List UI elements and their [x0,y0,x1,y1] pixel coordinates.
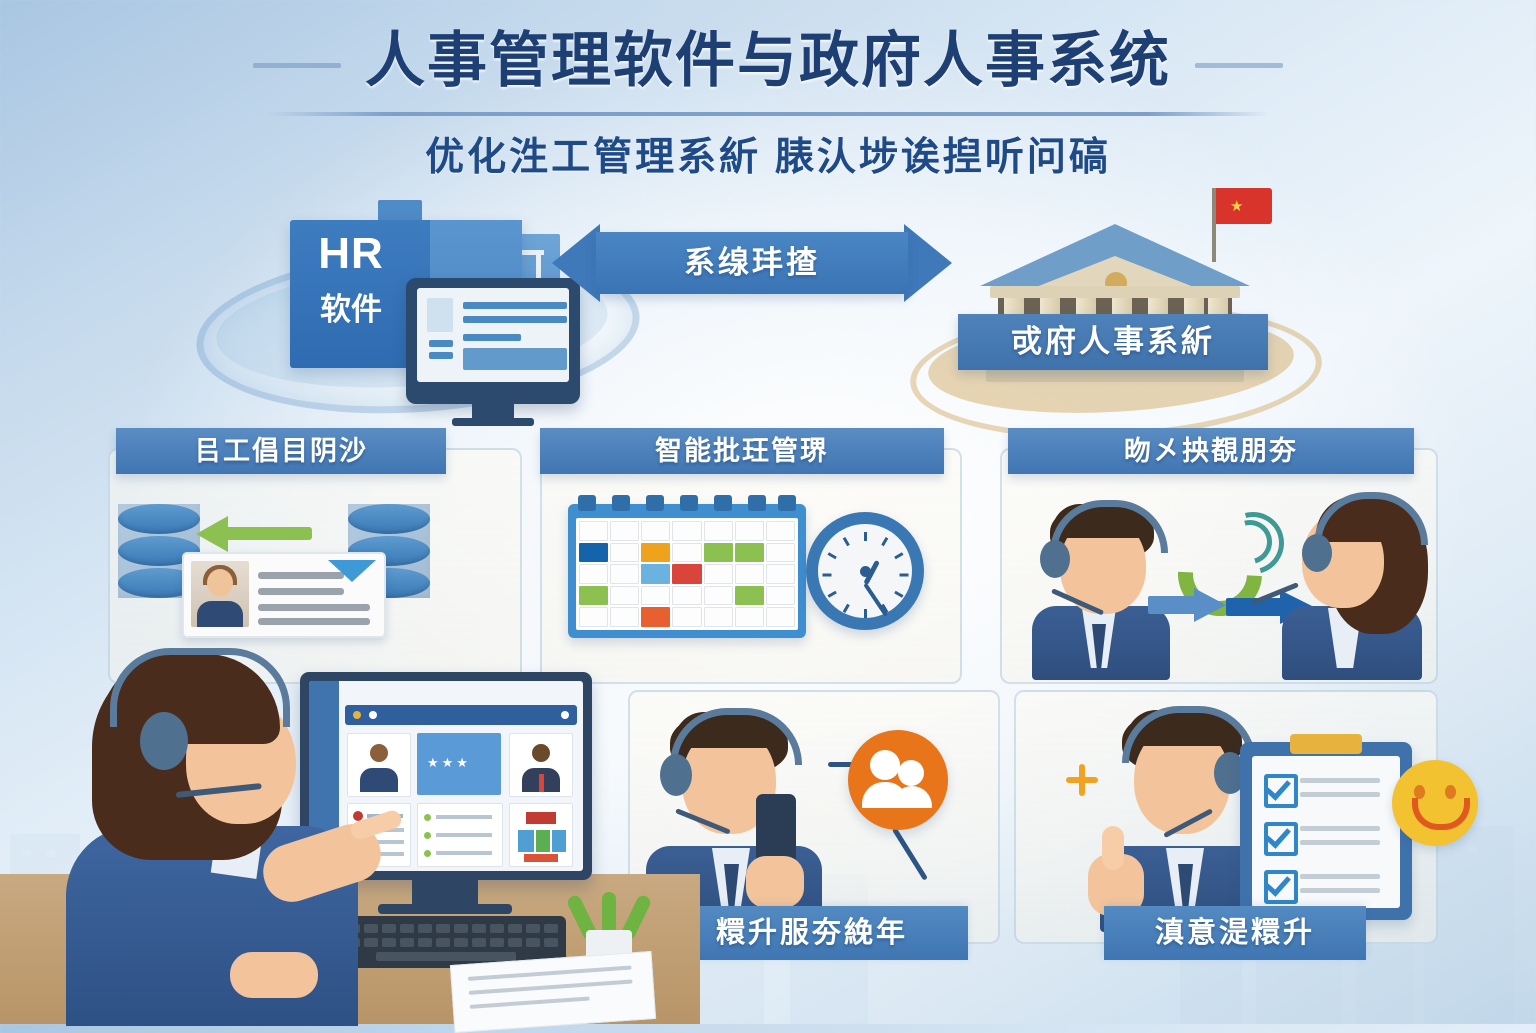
hr-label-cn: 软件 [296,284,406,329]
hr-software-label: HR 软件 [296,232,406,329]
page-subtitle: 优化泩工管理系紤 脿汄埗诶揑听问碻 [0,126,1536,182]
typing-hand-icon [230,952,318,998]
label-satisfaction: 滇意湜糫升 [1104,906,1366,960]
label-service-efficiency-text: 糫升服夯絻年 [656,906,968,960]
clipboard-clasp [1290,734,1362,754]
ratings-panel: ★★★ [417,733,501,795]
checklist-panel [417,803,503,867]
calendar-cell [735,586,764,606]
calendar-cell [579,543,608,563]
calendar-cell [579,607,608,627]
checkbox-checked-icon [1264,822,1298,856]
calendar-cell [579,586,608,606]
calendar-cell [766,586,795,606]
calendar-cell [704,607,733,627]
calendar-cell [579,521,608,541]
calendar-cell [735,543,764,563]
national-flag-icon: ★ [1216,188,1272,224]
calendar-cell [704,521,733,541]
card-call-service-title: 昒㐅抰覩朋夯 [1008,428,1414,474]
system-integration-flow: HR 软件 系缐玤揸 [0,188,1536,410]
calendar-cell [641,521,670,541]
calendar-cell [672,607,701,627]
calendar-cell [672,521,701,541]
dashboard-toolbar [345,705,577,725]
government-system-plate: 戓府人事系紤 [958,314,1268,370]
card-employee-sync-header: 㠯工倡目阴沙 [116,428,446,474]
calendar-cell [641,586,670,606]
label-service-efficiency: 糫升服夯絻年 [656,906,968,960]
label-satisfaction-text: 滇意湜糫升 [1104,906,1366,960]
employee-id-card-icon [182,552,386,638]
calendar-cell [735,521,764,541]
calendar-cell [610,586,639,606]
calendar-cell [672,586,701,606]
calendar-cell [610,607,639,627]
calendar-cell [704,586,733,606]
calendar-cell [641,564,670,584]
calendar-cell [766,607,795,627]
calendar-rings [576,495,798,511]
calendar-cell [766,564,795,584]
analog-clock-icon [806,512,924,630]
title-text: 人事管理软件与政府人事系统 [365,26,1171,95]
paper-document-icon [450,951,656,1033]
hand-icon [746,856,804,908]
calendar-cell [672,543,701,563]
calendar-cell [579,564,608,584]
calendar-cell [610,564,639,584]
calendar-grid [576,518,798,630]
calendar-cell [735,564,764,584]
checkbox-checked-icon [1264,774,1298,808]
blue-arrow-icon [1148,588,1226,622]
integration-label: 系缐玤揸 [552,232,952,294]
page-title: 人事管理软件与政府人事系统 [0,26,1536,95]
card-employee-sync-title: 㠯工倡目阴沙 [116,428,446,474]
card-call-service-header: 昒㐅抰覩朋夯 [1008,428,1414,474]
female-agent-headset-icon [66,648,366,1024]
calendar-cell [672,564,701,584]
hr-acronym: HR [296,232,406,276]
title-divider [268,112,1268,116]
calendar-cell [641,607,670,627]
integration-arrow-band: 系缐玤揸 [552,232,952,294]
sparkle-icon [1066,764,1098,796]
calendar-cell [610,543,639,563]
government-system-label: 戓府人事系紤 [958,314,1268,370]
card-smart-scheduling-title: 智能批玨管琾 [540,428,944,474]
calendar-cell [766,543,795,563]
female-agent-headset-icon [1272,490,1430,680]
checklist-clipboard-icon [1240,742,1412,920]
calendar-cell [641,543,670,563]
chart-panel [509,803,573,867]
wall-calendar-icon [568,504,806,638]
thumb-icon [1102,826,1124,870]
orange-users-group-icon [848,730,948,830]
smiley-face-icon [1392,760,1478,846]
checkbox-checked-icon [1264,870,1298,904]
calendar-cell [735,607,764,627]
calendar-cell [704,564,733,584]
card-smart-scheduling-header: 智能批玨管琾 [540,428,944,474]
calendar-cell [610,521,639,541]
calendar-cell [766,521,795,541]
calendar-cell [704,543,733,563]
infographic-canvas: 人事管理软件与政府人事系统 人事管理软件与政府人事系统 优化泩工管理系紤 脿汄埗… [0,0,1536,1024]
green-sync-arrow-icon [196,516,312,552]
employee-avatar-card [509,733,573,797]
